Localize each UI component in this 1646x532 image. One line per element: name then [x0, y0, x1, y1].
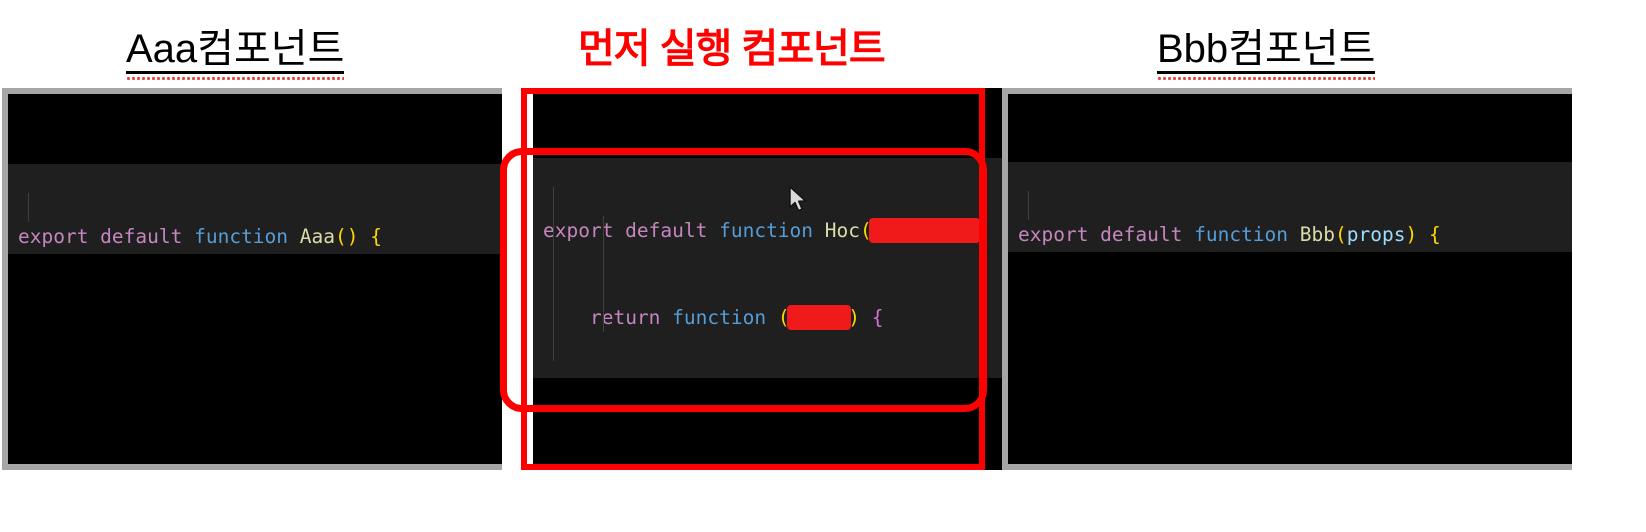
code-line: export default function Aaa() {: [8, 222, 502, 251]
panel-title-hoc-text: 먼저 실행 컴포넌트: [578, 27, 885, 71]
code-block-bbb[interactable]: export default function Bbb(props) { ret…: [1008, 162, 1572, 252]
indent-guide: [1028, 191, 1029, 220]
editor-panel-bbb[interactable]: export default function Bbb(props) { ret…: [1002, 88, 1572, 470]
code-line: export default function Bbb(props) {: [1008, 220, 1572, 249]
code-block-hoc[interactable]: export default function Hoc(Component) {…: [533, 158, 1017, 378]
indent-guide: [603, 216, 604, 332]
redaction-component: Component: [872, 216, 978, 245]
editor-panel-hoc[interactable]: export default function Hoc(Component) {…: [533, 88, 1017, 470]
mouse-pointer-icon: [789, 186, 809, 214]
redaction-props: props: [790, 303, 849, 332]
panel-title-aaa: Aaa컴포넌트: [126, 29, 344, 74]
code-line: export default function Hoc(Component) {: [533, 216, 1017, 245]
editor-panel-aaa[interactable]: export default function Aaa() { return <…: [2, 88, 502, 470]
indent-guide: [28, 193, 29, 222]
panel-title-aaa-text: Aaa컴포넌트: [126, 29, 344, 74]
screenshot-root: Aaa컴포넌트 먼저 실행 컴포넌트 Bbb컴포넌트 export defaul…: [0, 0, 1646, 532]
indent-guide: [553, 187, 554, 361]
panel-title-bbb-text: Bbb컴포넌트: [1157, 29, 1375, 74]
panel-title-hoc: 먼저 실행 컴포넌트: [578, 29, 885, 69]
code-line: return function (props) {: [533, 303, 1017, 332]
panel-title-bbb: Bbb컴포넌트: [1157, 29, 1375, 74]
code-block-aaa[interactable]: export default function Aaa() { return <…: [8, 164, 502, 254]
